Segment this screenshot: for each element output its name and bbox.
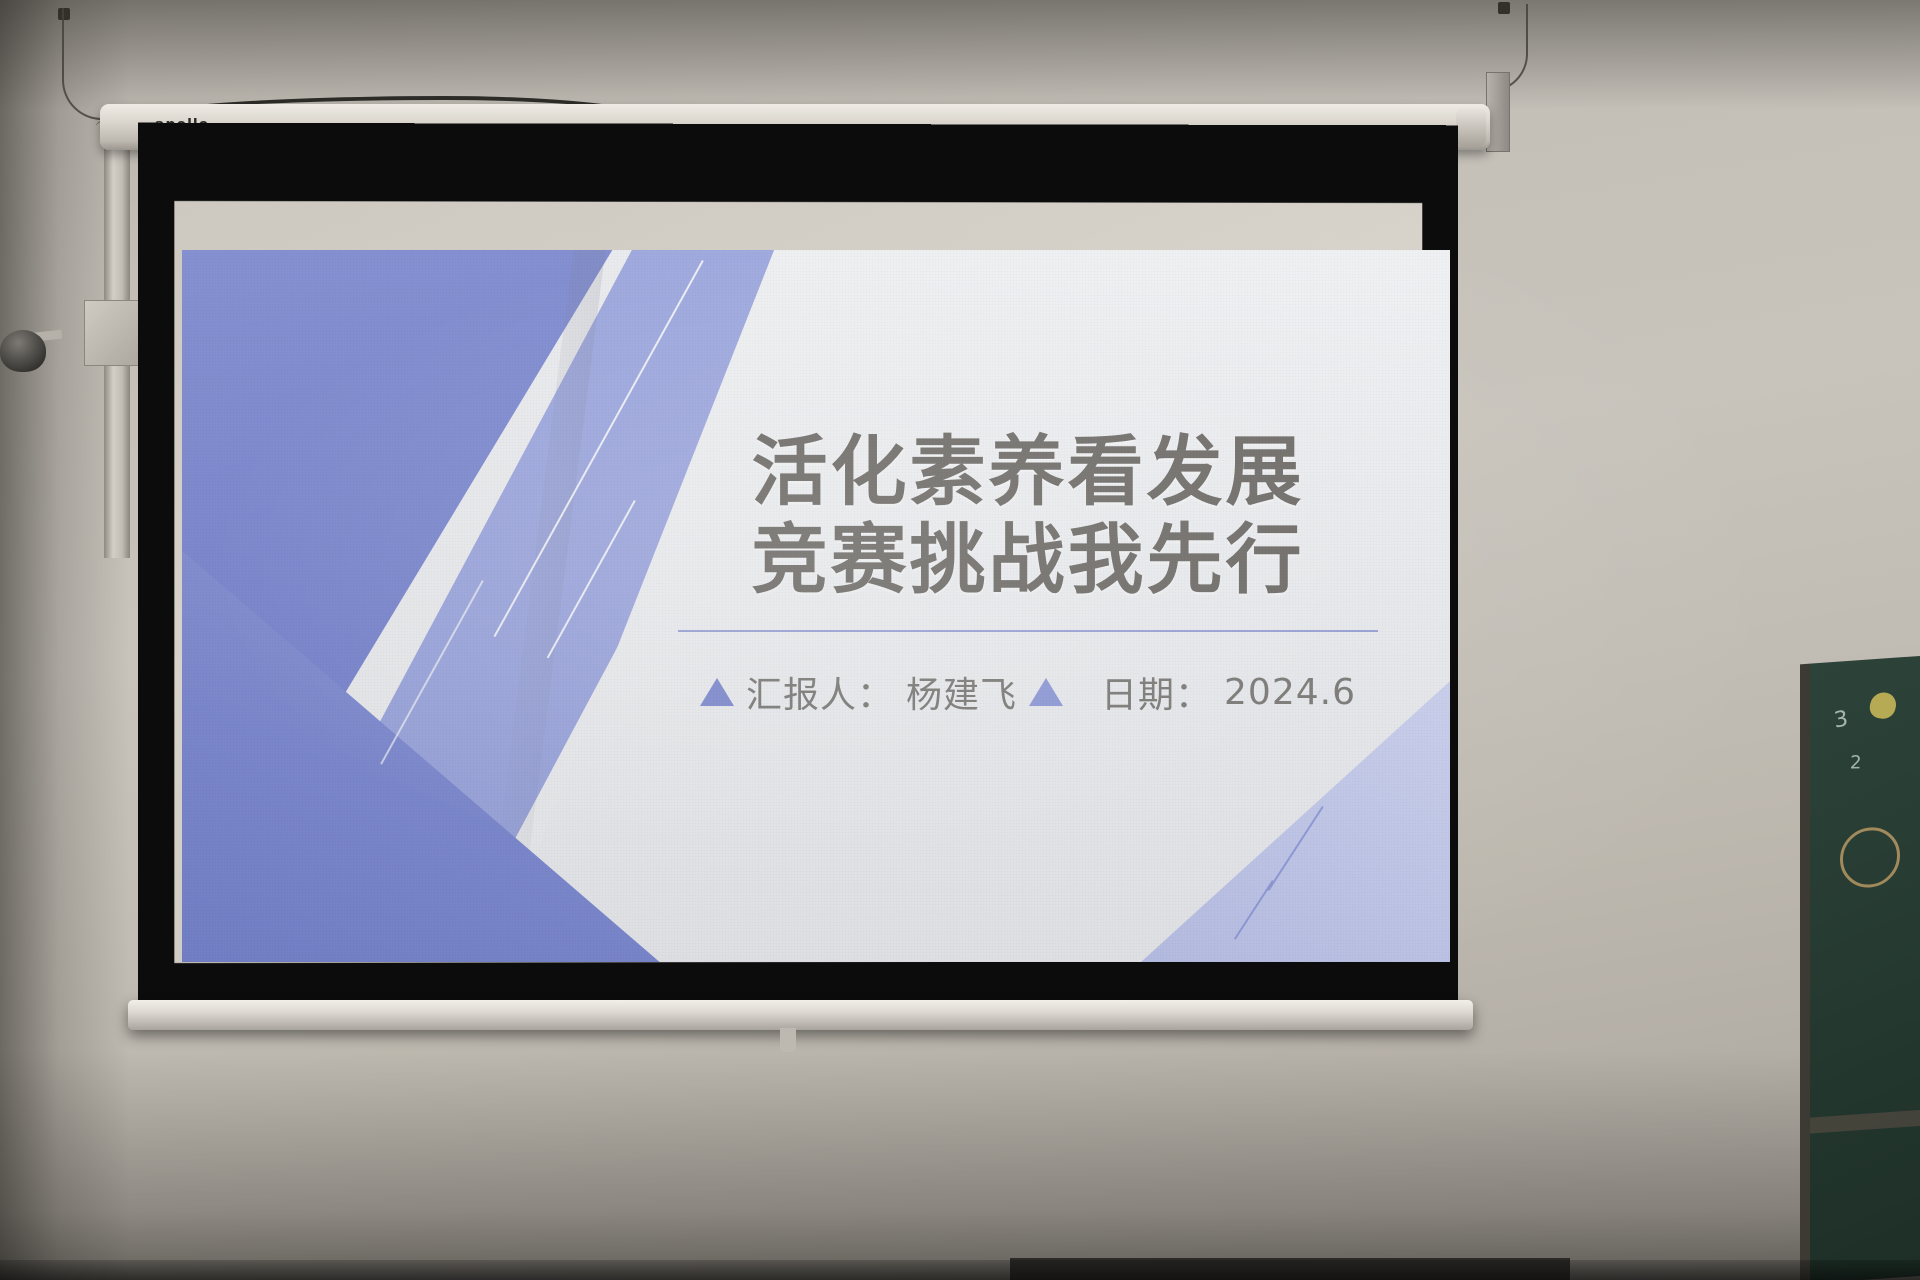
ceiling-cable-left-icon [62, 8, 110, 120]
triangle-bullet-icon-2 [1029, 678, 1063, 706]
wall-bottom-shading [0, 1050, 1920, 1280]
date-label: 日期： [1101, 666, 1212, 718]
wall-top-shading [0, 0, 1920, 110]
slide-byline: 汇报人： 杨建飞 日期： 2024.6 [648, 666, 1408, 718]
screen-weight-bar [128, 1000, 1473, 1030]
slide-text-block: 活化素养看发展 竞赛挑战我先行 汇报人： 杨建飞 日期： 2024.6 [648, 428, 1408, 718]
screen-housing-endcap [1456, 108, 1486, 146]
slide-title-line-2: 竞赛挑战我先行 [648, 516, 1408, 604]
chalk-mark-2: 2 [1849, 752, 1862, 773]
screen-pull-knob[interactable] [780, 1028, 796, 1052]
chalk-mark: 3 [1833, 706, 1850, 733]
floor-shadow [0, 1260, 1920, 1280]
slide-title: 活化素养看发展 竞赛挑战我先行 [648, 428, 1408, 604]
chalk-doodle-yellow [1868, 691, 1899, 720]
triangle-bullet-icon [700, 678, 734, 706]
blackboard: 3 2 [1800, 636, 1920, 1280]
chalk-tray [1810, 1090, 1920, 1134]
chalk-doodle-circle [1840, 825, 1900, 889]
presentation-slide: 活化素养看发展 竞赛挑战我先行 汇报人： 杨建飞 日期： 2024.6 [182, 250, 1450, 962]
presenter-label: 汇报人： [746, 666, 894, 718]
security-camera-icon [0, 330, 46, 372]
classroom-scene: apollo 活化素养看发展 竞赛挑战我先行 汇报人： 杨建飞 [0, 0, 1920, 1280]
title-divider-rule [678, 630, 1378, 632]
date-value: 2024.6 [1224, 672, 1356, 713]
presenter-name: 杨建飞 [906, 666, 1017, 718]
slide-title-line-1: 活化素养看发展 [648, 428, 1408, 516]
